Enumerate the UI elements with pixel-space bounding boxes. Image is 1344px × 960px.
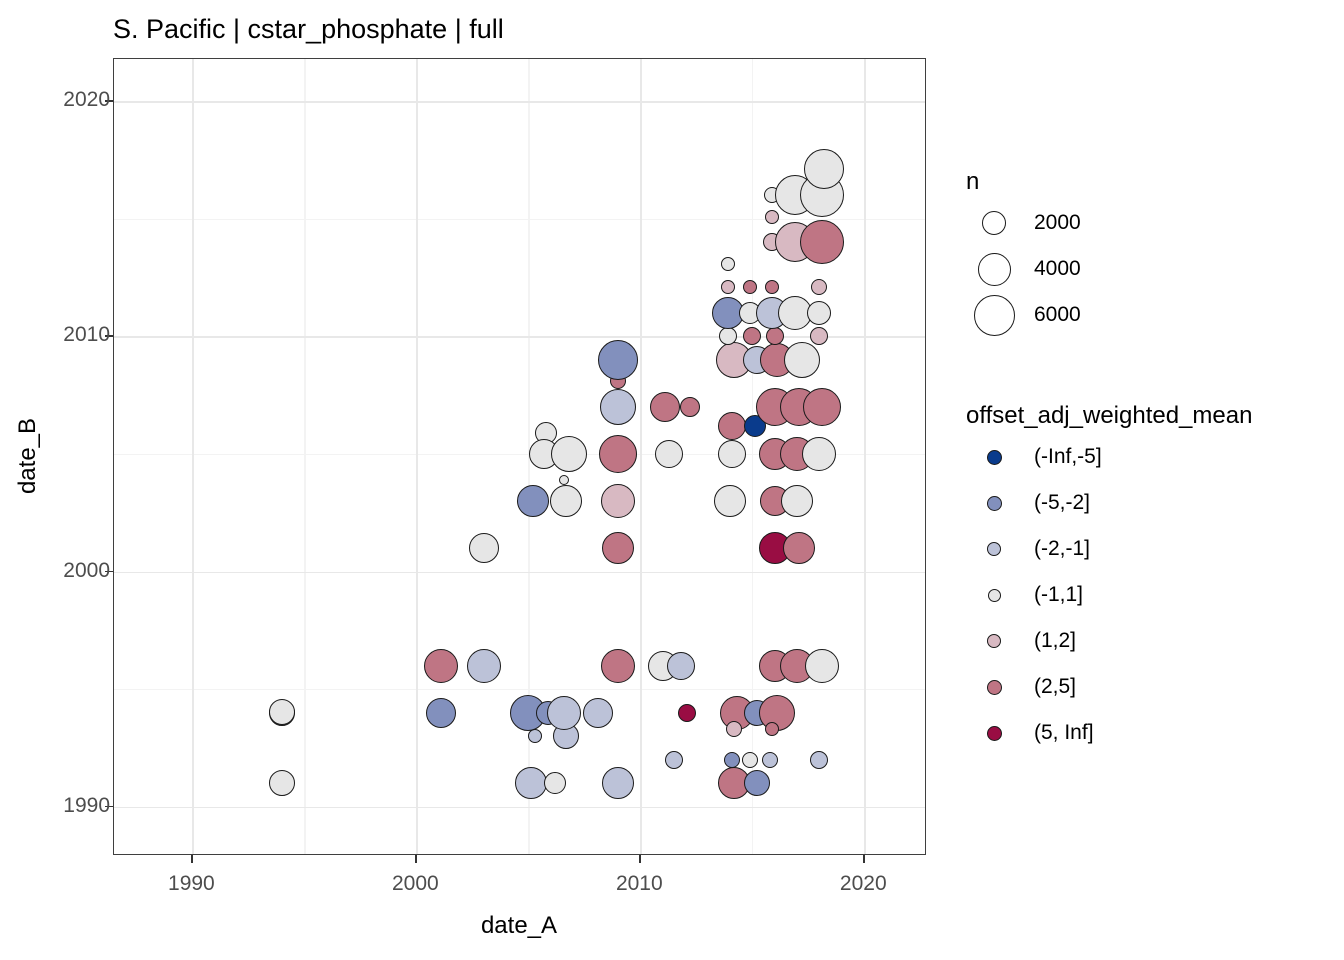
data-point [667, 652, 695, 680]
color-legend-key [966, 542, 1022, 556]
color-legend-label: (-5,-2] [1022, 491, 1090, 515]
x-tick-label: 2010 [616, 872, 663, 896]
data-point [601, 649, 635, 683]
color-legend-key [966, 496, 1022, 511]
color-legend-key [966, 450, 1022, 465]
y-tick-label: 2000 [63, 559, 110, 583]
data-point [559, 475, 569, 485]
data-point [805, 649, 839, 683]
data-point [517, 485, 549, 517]
x-axis-title: date_A [481, 912, 557, 940]
data-point [810, 751, 828, 769]
gridline-horizontal [114, 101, 925, 103]
data-point [783, 532, 815, 564]
color-legend-item[interactable]: (5, Inf] [966, 710, 1252, 756]
circle-icon [988, 589, 1001, 602]
data-point [426, 698, 456, 728]
y-axis-title: date_B [14, 418, 42, 494]
color-legend-key [966, 634, 1022, 648]
gridline-horizontal [114, 219, 925, 220]
color-legend-title: offset_adj_weighted_mean [966, 402, 1252, 430]
size-legend-key [966, 211, 1022, 235]
gridline-horizontal [114, 807, 925, 809]
color-legend-label: (5, Inf] [1022, 721, 1094, 745]
color-legend-key [966, 726, 1022, 741]
data-point [762, 752, 778, 768]
color-legend-rows: (-Inf,-5](-5,-2](-2,-1](-1,1](1,2](2,5](… [966, 434, 1252, 756]
size-legend-key [966, 253, 1022, 286]
color-legend: offset_adj_weighted_mean (-Inf,-5](-5,-2… [966, 402, 1252, 756]
circle-icon [987, 634, 1001, 648]
data-point [528, 729, 542, 743]
color-legend-key [966, 589, 1022, 602]
color-legend-item[interactable]: (-1,1] [966, 572, 1252, 618]
color-legend-item[interactable]: (-Inf,-5] [966, 434, 1252, 480]
data-point [742, 752, 758, 768]
data-point [665, 751, 683, 769]
data-point [550, 485, 582, 517]
data-point [800, 220, 844, 264]
gridline-horizontal [114, 572, 925, 574]
color-legend-label: (1,2] [1022, 629, 1076, 653]
data-point [680, 397, 700, 417]
data-point [804, 149, 844, 189]
size-legend: n 200040006000 [966, 168, 1081, 338]
data-point [766, 327, 784, 345]
data-point [269, 699, 295, 725]
color-legend-label: (-Inf,-5] [1022, 445, 1102, 469]
data-point [718, 412, 746, 440]
data-point [721, 280, 735, 294]
data-point [802, 437, 836, 471]
x-tick-label: 1990 [168, 872, 215, 896]
data-point [718, 440, 746, 468]
size-legend-item[interactable]: 2000 [966, 200, 1081, 246]
data-point [726, 721, 742, 737]
x-tick-mark [415, 855, 417, 863]
data-point [424, 649, 458, 683]
gridline-vertical [864, 59, 866, 854]
color-legend-item[interactable]: (2,5] [966, 664, 1252, 710]
data-point [765, 722, 779, 736]
x-tick-mark [191, 855, 193, 863]
size-legend-item[interactable]: 4000 [966, 246, 1081, 292]
data-point [602, 767, 634, 799]
data-point [469, 533, 499, 563]
data-point [601, 484, 635, 518]
data-point [743, 280, 757, 294]
data-point [598, 340, 638, 380]
circle-icon [987, 496, 1002, 511]
circle-icon [974, 295, 1015, 336]
data-point [784, 342, 820, 378]
page-title: S. Pacific | cstar_phosphate | full [113, 12, 504, 46]
data-point [583, 698, 613, 728]
color-legend-label: (-1,1] [1022, 583, 1083, 607]
data-point [803, 388, 841, 426]
data-point [678, 704, 696, 722]
data-point [724, 752, 740, 768]
data-point [602, 532, 634, 564]
data-point [515, 767, 547, 799]
data-point [467, 649, 501, 683]
data-point [719, 327, 737, 345]
data-point [744, 770, 770, 796]
size-legend-label: 4000 [1022, 257, 1081, 281]
size-legend-label: 6000 [1022, 303, 1081, 327]
x-tick-mark [639, 855, 641, 863]
y-tick-label: 1990 [63, 794, 110, 818]
gridline-vertical [192, 59, 194, 854]
data-point [765, 210, 779, 224]
data-point [781, 485, 813, 517]
color-legend-key [966, 680, 1022, 695]
size-legend-item[interactable]: 6000 [966, 292, 1081, 338]
circle-icon [987, 726, 1002, 741]
circle-icon [987, 450, 1002, 465]
data-point [810, 327, 828, 345]
ggplot-figure: S. Pacific | cstar_phosphate | full 1990… [0, 0, 1344, 960]
data-point [650, 392, 680, 422]
color-legend-label: (2,5] [1022, 675, 1076, 699]
data-point [807, 301, 831, 325]
data-point [269, 770, 295, 796]
y-tick-label: 2020 [63, 88, 110, 112]
gridline-horizontal [114, 336, 925, 338]
color-legend-label: (-2,-1] [1022, 537, 1090, 561]
color-legend-item[interactable]: (-2,-1] [966, 526, 1252, 572]
circle-icon [987, 680, 1002, 695]
circle-icon [982, 211, 1006, 235]
gridline-vertical [304, 59, 305, 854]
size-legend-key [966, 295, 1022, 336]
data-point [600, 389, 636, 425]
data-point [721, 257, 735, 271]
data-point [743, 327, 761, 345]
size-legend-label: 2000 [1022, 211, 1081, 235]
gridline-vertical [752, 59, 753, 854]
data-point [765, 280, 779, 294]
data-point [547, 696, 581, 730]
plot-panel [113, 58, 926, 855]
data-point [551, 436, 587, 472]
data-point [544, 772, 566, 794]
data-point [655, 440, 683, 468]
color-legend-item[interactable]: (1,2] [966, 618, 1252, 664]
y-tick-label: 2010 [63, 323, 110, 347]
size-legend-rows: 200040006000 [966, 200, 1081, 338]
gridline-vertical [416, 59, 418, 854]
circle-icon [978, 253, 1011, 286]
x-tick-mark [863, 855, 865, 863]
circle-icon [987, 542, 1001, 556]
x-tick-label: 2000 [392, 872, 439, 896]
gridline-vertical [640, 59, 642, 854]
color-legend-item[interactable]: (-5,-2] [966, 480, 1252, 526]
data-point [811, 279, 827, 295]
x-tick-label: 2020 [840, 872, 887, 896]
size-legend-title: n [966, 168, 1081, 196]
gridline-horizontal [114, 689, 925, 690]
data-point [599, 435, 637, 473]
data-point [714, 485, 746, 517]
